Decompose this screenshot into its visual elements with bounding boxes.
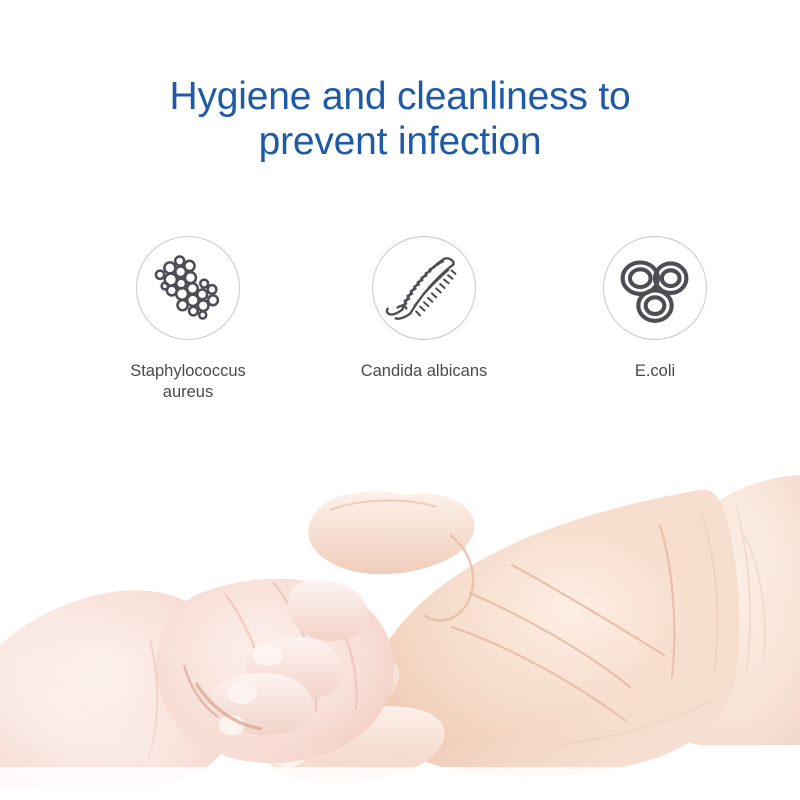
page-title: Hygiene and cleanliness to prevent infec…: [0, 74, 800, 164]
baby-hand-holding-adult-hand-photo: [0, 415, 800, 800]
candida-albicans-icon: [373, 237, 475, 339]
germ-circle-frame: [372, 236, 476, 340]
germ-circle-frame: [603, 236, 707, 340]
germ-item-candida-albicans[interactable]: Candida albicans: [314, 236, 534, 382]
germ-item-staphylococcus-aureus[interactable]: Staphylococcus aureus: [78, 236, 298, 403]
germ-label: E.coli: [545, 361, 765, 382]
hands-illustration: [0, 415, 800, 800]
germ-list: Staphylococcus aureus: [0, 236, 800, 411]
germ-item-ecoli[interactable]: E.coli: [545, 236, 765, 382]
germ-label: Staphylococcus aureus: [78, 361, 298, 403]
staphylococcus-cluster-icon: [137, 237, 239, 339]
germ-circle-frame: [136, 236, 240, 340]
germ-label: Candida albicans: [314, 361, 534, 382]
poster-canvas: Hygiene and cleanliness to prevent infec…: [0, 0, 800, 800]
ecoli-rings-icon: [604, 237, 706, 339]
